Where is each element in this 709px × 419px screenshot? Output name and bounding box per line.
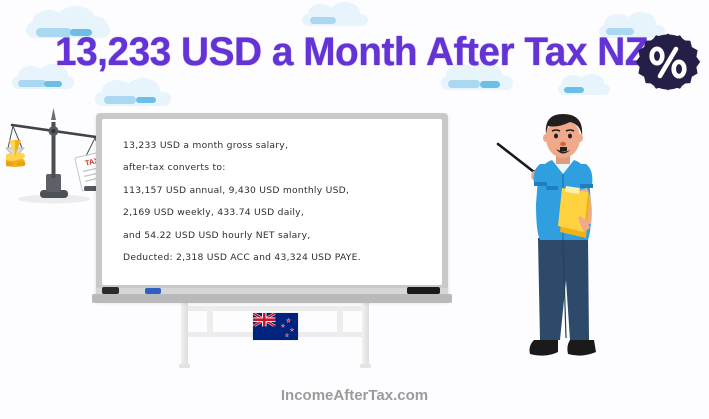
left-eye bbox=[554, 134, 558, 139]
shirt-pocket bbox=[546, 186, 558, 190]
page-title: 13,233 USD a Month After Tax NZ bbox=[55, 24, 655, 80]
stand-foot-right bbox=[360, 364, 371, 368]
page-title-text: 13,233 USD a Month After Tax NZ bbox=[55, 30, 648, 75]
pointer-stick bbox=[498, 144, 538, 176]
head bbox=[543, 114, 583, 158]
blue-marker-icon bbox=[145, 288, 161, 294]
eraser-icon bbox=[102, 287, 119, 294]
mouth bbox=[560, 142, 566, 146]
cloud-top-center bbox=[300, 2, 370, 26]
percent-badge bbox=[634, 32, 702, 100]
stand-brace-right bbox=[337, 306, 343, 336]
new-zealand-flag bbox=[253, 313, 298, 340]
board-line-1: 13,233 USD a month gross salary, bbox=[123, 135, 428, 157]
poster-canvas: 13,233 USD a Month After Tax NZ bbox=[0, 0, 709, 419]
shoes bbox=[530, 340, 597, 356]
whiteboard-surface: 13,233 USD a month gross salary, after-t… bbox=[102, 119, 442, 285]
scale-beam bbox=[12, 125, 96, 137]
cloud-top-mid bbox=[92, 78, 174, 106]
stand-brace-left bbox=[207, 306, 213, 336]
board-line-4: 2,169 USD weekly, 433.74 USD daily, bbox=[123, 202, 428, 224]
board-line-2: after-tax converts to: bbox=[123, 157, 428, 179]
scale-finial bbox=[51, 108, 56, 120]
board-line-3: 113,157 USD annual, 9,430 USD monthly US… bbox=[123, 180, 428, 202]
black-marker-icon bbox=[407, 287, 440, 294]
stand-leg-left bbox=[181, 300, 188, 366]
flag-union-jack bbox=[253, 313, 276, 327]
whiteboard-text: 13,233 USD a month gross salary, after-t… bbox=[123, 135, 428, 269]
site-footer: IncomeAfterTax.com bbox=[0, 387, 709, 404]
left-ear bbox=[543, 134, 549, 142]
stand-leg-right bbox=[362, 300, 369, 366]
pants bbox=[538, 238, 589, 340]
right-ear bbox=[577, 134, 583, 142]
teacher-character bbox=[496, 112, 656, 374]
whiteboard-tray bbox=[92, 294, 452, 303]
whiteboard: 13,233 USD a month gross salary, after-t… bbox=[96, 113, 448, 301]
right-eye bbox=[568, 134, 572, 139]
board-line-6: Deducted: 2,318 USD ACC and 43,324 USD P… bbox=[123, 247, 428, 269]
board-line-5: and 54.22 USD USD hourly NET salary, bbox=[123, 225, 428, 247]
stand-foot-left bbox=[179, 364, 190, 368]
